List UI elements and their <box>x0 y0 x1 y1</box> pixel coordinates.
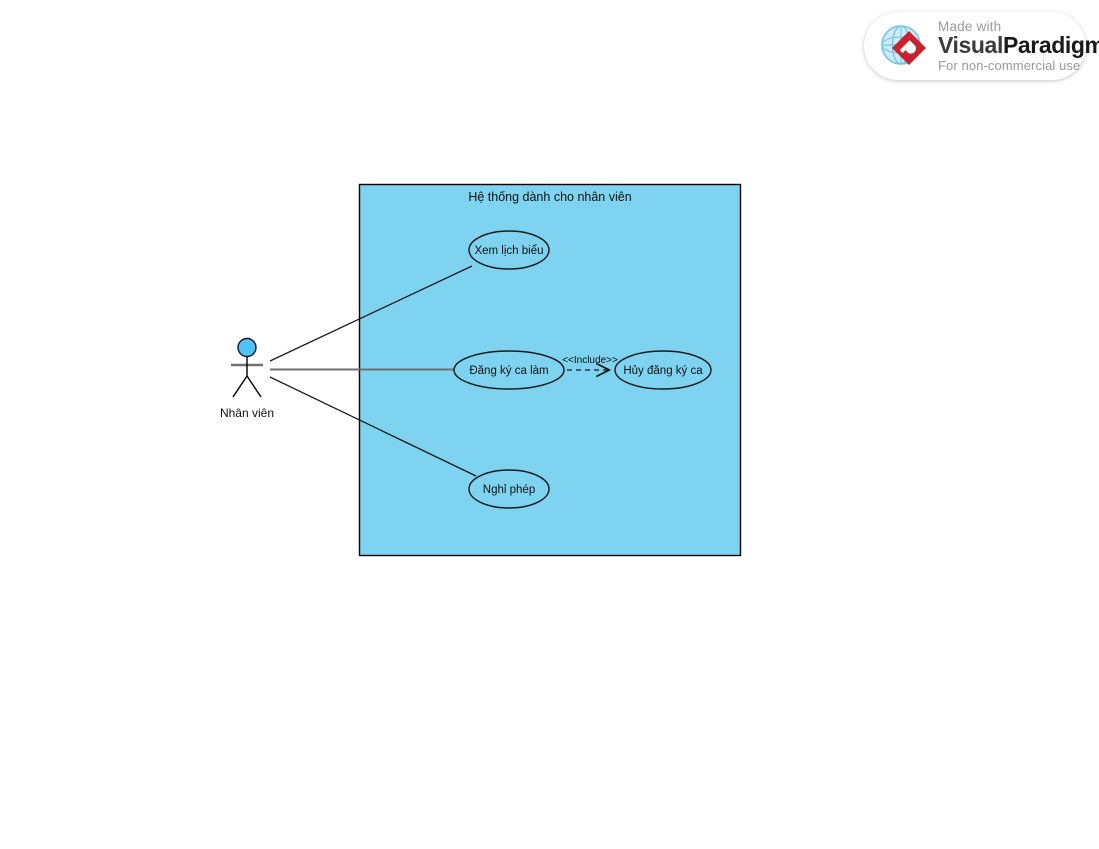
visual-paradigm-logo-icon <box>876 18 932 74</box>
actor-leg-left <box>233 376 247 397</box>
watermark-non-commercial-text: For non-commercial use <box>938 59 1099 72</box>
include-stereotype-label: <<Include>> <box>562 355 618 366</box>
use-case-label-xem-lich-bieu: Xem lịch biểu <box>474 245 543 257</box>
actor-leg-right <box>247 376 261 397</box>
watermark-brand-text: VisualParadigm <box>938 34 1099 57</box>
watermark-brand-first: Visual <box>938 32 1003 58</box>
actor-label-nhan-vien: Nhân viên <box>220 406 274 420</box>
use-case-label-nghi-phep: Nghỉ phép <box>483 484 535 496</box>
system-boundary-title: Hệ thống dành cho nhân viên <box>468 190 631 204</box>
actor-head-icon <box>238 339 256 357</box>
use-case-label-dang-ky-ca-lam: Đăng ký ca làm <box>469 365 548 377</box>
watermark-brand-second: Paradigm <box>1003 32 1099 58</box>
visual-paradigm-watermark: Made with VisualParadigm For non-commerc… <box>864 12 1086 80</box>
actor-nhan-vien[interactable]: Nhân viên <box>220 339 274 421</box>
use-case-diagram-canvas: Hệ thống dành cho nhân viên Nhân viên Xe… <box>0 0 1099 849</box>
use-case-label-huy-dang-ky-ca: Hủy đăng ký ca <box>623 365 703 377</box>
watermark-made-with-text: Made with <box>938 20 1099 34</box>
